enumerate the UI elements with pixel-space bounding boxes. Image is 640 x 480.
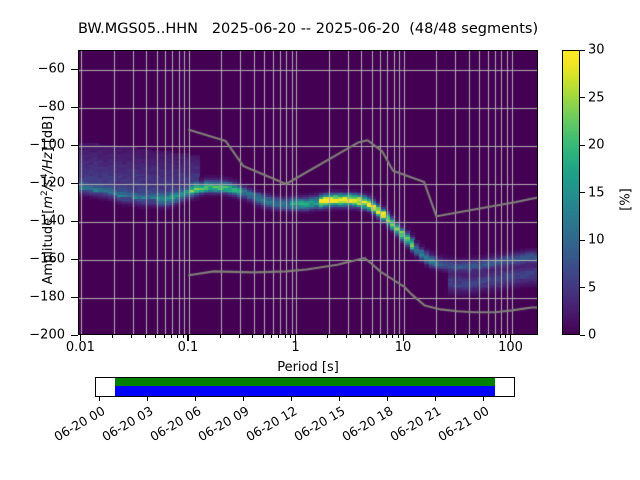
colorbar-gradient xyxy=(563,51,579,334)
page-title: BW.MGS05..HHN 2025-06-20 -- 2025-06-20 (… xyxy=(78,21,538,37)
colorbar-tick-mark xyxy=(580,97,585,98)
x-axis-label: Period [s] xyxy=(78,360,538,375)
data-coverage-bar[interactable] xyxy=(95,377,515,397)
colorbar-tick-mark xyxy=(580,50,585,51)
x-tick-minor xyxy=(252,335,253,338)
colorbar-tick-mark xyxy=(580,287,585,288)
x-tick-minor xyxy=(183,335,184,338)
x-tick-minor xyxy=(278,335,279,338)
colorbar-tick-label: 0 xyxy=(588,328,596,343)
x-tick-minor xyxy=(392,335,393,338)
ppsd-density-histogram xyxy=(79,51,538,335)
x-tick-minor xyxy=(145,335,146,338)
x-tick-minor xyxy=(327,335,328,338)
colorbar-tick-label: 5 xyxy=(588,280,596,295)
y-tick-label: −60 xyxy=(38,62,65,77)
x-tick-minor xyxy=(505,335,506,338)
colorbar-tick-mark xyxy=(580,145,585,146)
y-tick-label: −120 xyxy=(29,176,65,191)
time-tick-mark xyxy=(387,396,388,401)
y-tick-label: −160 xyxy=(29,252,65,267)
ppsd-figure: BW.MGS05..HHN 2025-06-20 -- 2025-06-20 (… xyxy=(0,0,640,480)
y-tick-mark xyxy=(71,183,78,184)
x-tick-label: 100 xyxy=(498,340,523,355)
coverage-segment-psd xyxy=(115,378,495,386)
x-tick-minor xyxy=(360,335,361,338)
colorbar-tick-label: 30 xyxy=(588,43,605,58)
colorbar-tick-mark xyxy=(580,335,585,336)
x-tick-label: 10 xyxy=(395,340,412,355)
x-tick-minor xyxy=(500,335,501,338)
y-tick-label: −200 xyxy=(29,328,65,343)
x-tick-label: 1 xyxy=(291,340,299,355)
colorbar-tick-label: 10 xyxy=(588,233,605,248)
x-tick-minor xyxy=(112,335,113,338)
x-tick-minor xyxy=(486,335,487,338)
x-tick-minor xyxy=(386,335,387,338)
y-tick-mark xyxy=(71,335,78,336)
x-tick-label: 0.1 xyxy=(178,340,199,355)
time-tick-mark xyxy=(291,396,292,401)
y-tick-mark xyxy=(71,107,78,108)
y-axis-unit-hz: /Hz xyxy=(41,152,56,173)
x-tick-minor xyxy=(239,335,240,338)
colorbar-tick-mark xyxy=(580,192,585,193)
x-tick-minor xyxy=(454,335,455,338)
x-tick-minor xyxy=(263,335,264,338)
y-tick-label: −100 xyxy=(29,138,65,153)
y-axis-unit-exp-2: 2 xyxy=(40,190,50,196)
x-tick-minor xyxy=(370,335,371,338)
x-tick-minor xyxy=(346,335,347,338)
x-tick-minor xyxy=(398,335,399,338)
colorbar-tick-label: 25 xyxy=(588,90,605,105)
time-tick-mark xyxy=(243,396,244,401)
x-tick-minor xyxy=(379,335,380,338)
x-tick-minor xyxy=(220,335,221,338)
x-tick-minor xyxy=(164,335,165,338)
x-tick-label: 0.01 xyxy=(66,340,95,355)
x-tick-minor xyxy=(467,335,468,338)
x-tick-minor xyxy=(493,335,494,338)
colorbar xyxy=(562,50,580,335)
x-tick-minor xyxy=(171,335,172,338)
y-tick-mark xyxy=(71,221,78,222)
x-tick-minor xyxy=(271,335,272,338)
x-tick-minor xyxy=(435,335,436,338)
colorbar-tick-mark xyxy=(580,240,585,241)
x-tick-minor xyxy=(285,335,286,338)
x-tick-minor xyxy=(131,335,132,338)
y-tick-mark xyxy=(71,145,78,146)
colorbar-tick-label: 20 xyxy=(588,138,605,153)
time-tick-mark xyxy=(147,396,148,401)
time-tick-mark xyxy=(483,396,484,401)
time-tick-mark xyxy=(195,396,196,401)
time-tick-mark xyxy=(99,396,100,401)
x-tick-minor xyxy=(478,335,479,338)
y-tick-label: −180 xyxy=(29,290,65,305)
y-axis-unit-m: m xyxy=(41,196,56,209)
y-tick-mark xyxy=(71,259,78,260)
x-tick-minor xyxy=(290,335,291,338)
ppsd-plot-area[interactable] xyxy=(78,50,538,335)
y-tick-mark xyxy=(71,69,78,70)
x-tick-minor xyxy=(177,335,178,338)
y-tick-mark xyxy=(71,297,78,298)
y-tick-label: −80 xyxy=(38,100,65,115)
x-tick-minor xyxy=(155,335,156,338)
coverage-segment-data xyxy=(115,386,495,396)
y-tick-label: −140 xyxy=(29,214,65,229)
time-tick-mark xyxy=(339,396,340,401)
time-tick-mark xyxy=(435,396,436,401)
colorbar-label: [%] xyxy=(619,140,634,260)
colorbar-tick-label: 15 xyxy=(588,185,605,200)
